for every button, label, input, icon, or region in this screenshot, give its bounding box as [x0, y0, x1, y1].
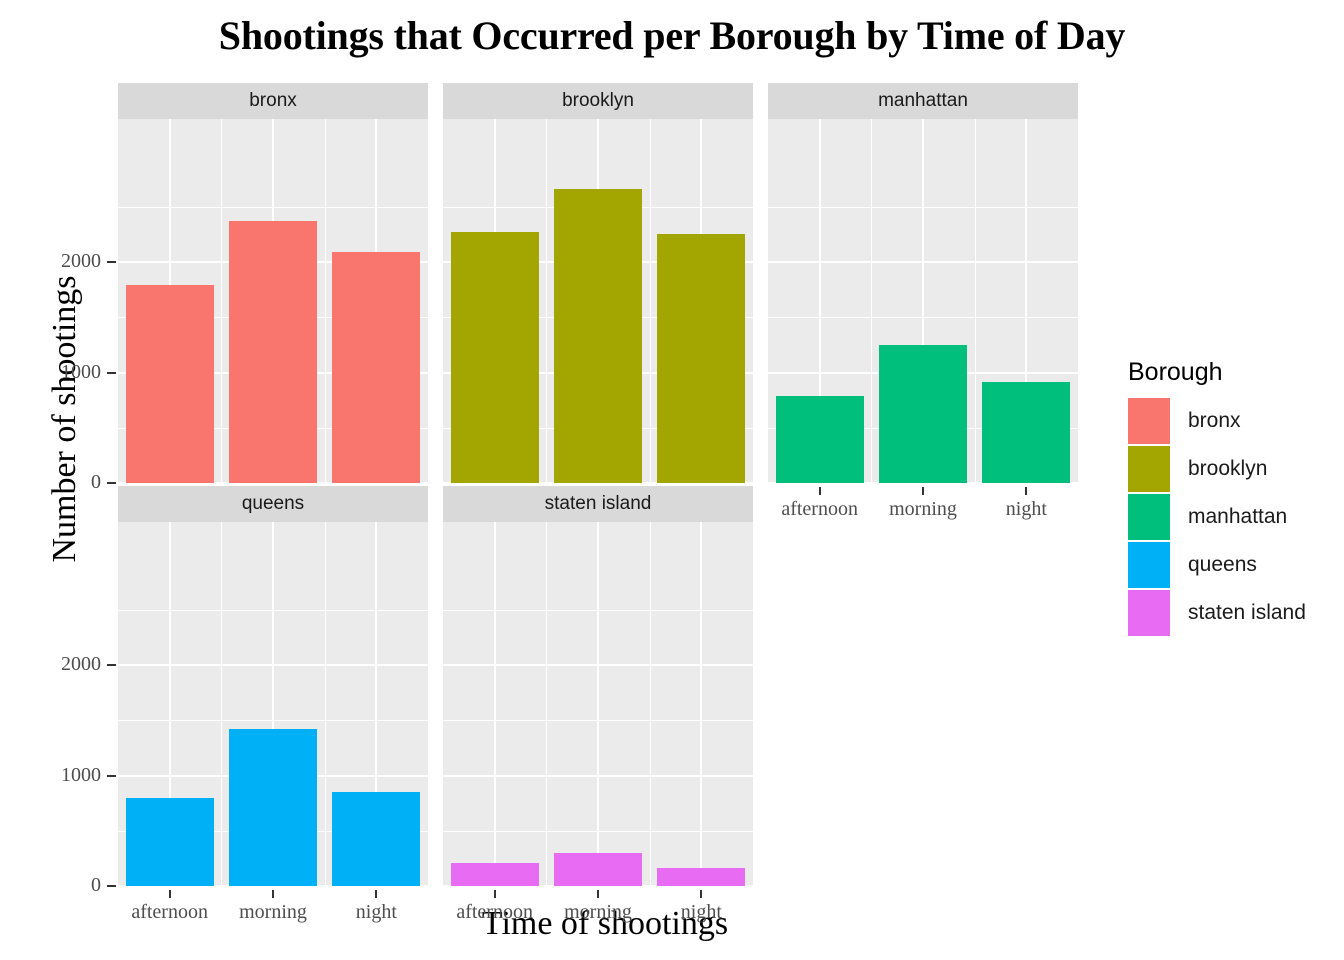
gridline-minor-vertical [650, 119, 651, 484]
legend-color-swatch [1128, 446, 1170, 492]
chart-root: Shootings that Occurred per Borough by T… [0, 0, 1344, 960]
facet-strip-label: bronx [118, 83, 428, 119]
facet-strip-label: queens [118, 486, 428, 522]
plot-area [118, 522, 428, 887]
legend-color-swatch [1128, 590, 1170, 636]
bar-queens-night [332, 792, 420, 886]
facet-strip-label: manhattan [768, 83, 1078, 119]
gridline-major-vertical [494, 522, 496, 887]
y-tick-label: 1000 [0, 764, 101, 787]
bar-brooklyn-afternoon [451, 232, 539, 483]
bar-queens-afternoon [126, 798, 214, 886]
bar-manhattan-afternoon [776, 396, 864, 483]
gridline-minor-vertical [221, 119, 222, 484]
x-tick-mark [922, 487, 924, 495]
chart-title: Shootings that Occurred per Borough by T… [0, 12, 1344, 59]
y-tick-mark [107, 775, 116, 777]
gridline-minor-vertical [650, 522, 651, 887]
y-tick-mark [107, 482, 116, 484]
plot-area [443, 522, 753, 887]
bar-manhattan-morning [879, 345, 967, 483]
legend-item-label: queens [1188, 553, 1257, 577]
legend-color-swatch [1128, 494, 1170, 540]
y-tick-mark [107, 261, 116, 263]
legend-item-label: staten island [1188, 601, 1306, 625]
y-tick-label: 2000 [0, 653, 101, 676]
facet-panel-bronx: bronx [118, 83, 428, 484]
plot-area [768, 119, 1078, 484]
y-tick-label: 1000 [0, 361, 101, 384]
x-tick-mark [375, 890, 377, 898]
gridline-major-vertical [700, 522, 702, 887]
facet-strip-label: staten island [443, 486, 753, 522]
y-tick-mark [107, 372, 116, 374]
x-tick-label: night [946, 498, 1106, 521]
legend-item-queens[interactable]: queens [1128, 541, 1306, 589]
facet-panel-queens: queens [118, 486, 428, 887]
gridline-minor-vertical [871, 119, 872, 484]
bar-brooklyn-morning [554, 189, 642, 483]
legend-item-label: manhattan [1188, 505, 1287, 529]
gridline-major-vertical [597, 522, 599, 887]
legend-item-brooklyn[interactable]: brooklyn [1128, 445, 1306, 493]
gridline-minor-vertical [546, 119, 547, 484]
gridline-minor-vertical [221, 522, 222, 887]
y-tick-label: 0 [0, 874, 101, 897]
legend-item-label: bronx [1188, 409, 1241, 433]
y-tick-label: 0 [0, 471, 101, 494]
x-tick-label: night [621, 901, 781, 924]
bar-staten-island-night [657, 868, 745, 886]
legend-item-manhattan[interactable]: manhattan [1128, 493, 1306, 541]
facet-panel-brooklyn: brooklyn [443, 83, 753, 484]
bar-bronx-night [332, 252, 420, 483]
bar-bronx-morning [229, 221, 317, 483]
x-tick-mark [597, 890, 599, 898]
legend-title: Borough [1128, 358, 1306, 387]
gridline-minor-vertical [325, 119, 326, 484]
x-tick-mark [169, 890, 171, 898]
y-tick-label: 2000 [0, 250, 101, 273]
x-tick-mark [1025, 487, 1027, 495]
bar-queens-morning [229, 729, 317, 886]
x-tick-mark [494, 890, 496, 898]
bar-bronx-afternoon [126, 285, 214, 483]
y-tick-mark [107, 885, 116, 887]
legend: Borough bronxbrooklynmanhattanqueensstat… [1128, 358, 1306, 637]
bar-brooklyn-night [657, 234, 745, 483]
legend-items: bronxbrooklynmanhattanqueensstaten islan… [1128, 397, 1306, 637]
x-tick-mark [819, 487, 821, 495]
legend-item-bronx[interactable]: bronx [1128, 397, 1306, 445]
x-tick-mark [272, 890, 274, 898]
bar-staten-island-morning [554, 853, 642, 886]
y-tick-mark [107, 664, 116, 666]
facet-strip-label: brooklyn [443, 83, 753, 119]
legend-color-swatch [1128, 542, 1170, 588]
legend-item-staten-island[interactable]: staten island [1128, 589, 1306, 637]
facet-panel-manhattan: manhattan [768, 83, 1078, 484]
bar-staten-island-afternoon [451, 863, 539, 886]
gridline-minor-vertical [975, 119, 976, 484]
bar-manhattan-night [982, 382, 1070, 483]
facet-panel-staten-island: staten island [443, 486, 753, 887]
legend-item-label: brooklyn [1188, 457, 1267, 481]
plot-area [118, 119, 428, 484]
gridline-minor-vertical [546, 522, 547, 887]
y-axis-title: Number of shootings [46, 239, 84, 599]
plot-area [443, 119, 753, 484]
gridline-minor-vertical [325, 522, 326, 887]
legend-color-swatch [1128, 398, 1170, 444]
x-tick-mark [700, 890, 702, 898]
